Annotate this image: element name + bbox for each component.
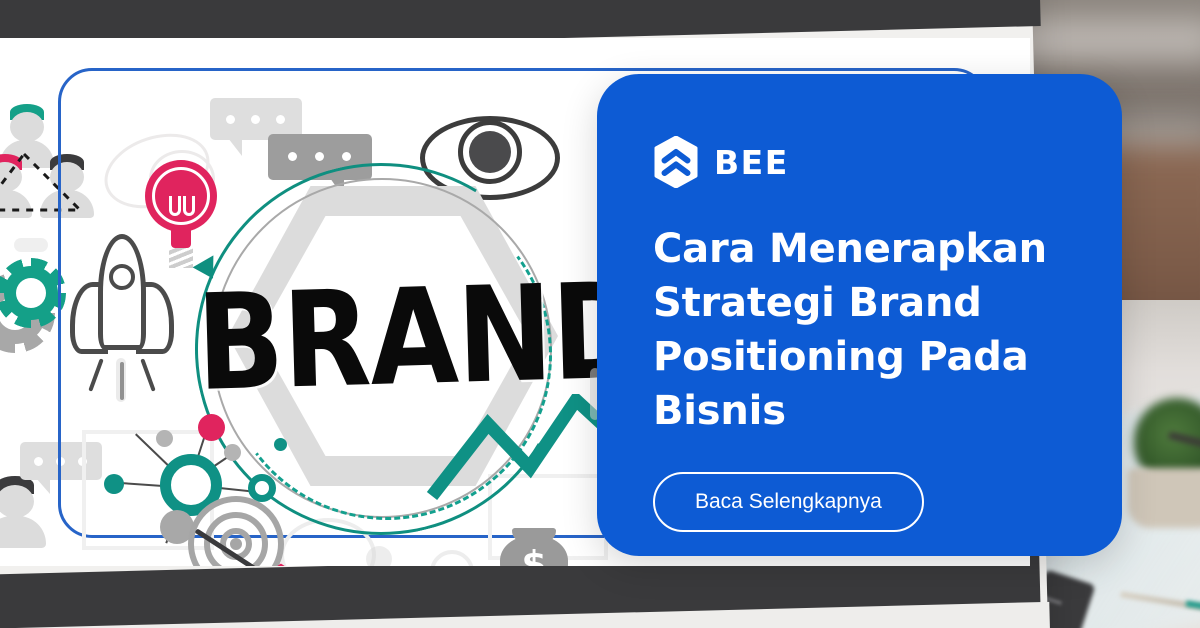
decorative-dot [366, 546, 392, 566]
decorative-bar [14, 238, 48, 252]
screenshot-canvas: BRAND [0, 0, 1200, 628]
brand-wordmark: BRAND [195, 265, 647, 410]
read-more-button[interactable]: Baca Selengkapnya [653, 472, 924, 532]
gear-icon [4, 266, 58, 320]
brand-name: BEE [714, 143, 789, 182]
brand-lockup: BEE [653, 136, 1066, 188]
page-title: Cara Menerapkan Strategi Brand Positioni… [653, 222, 1066, 438]
promo-card: BEE Cara Menerapkan Strategi Brand Posit… [597, 74, 1122, 556]
decorative-circle [430, 550, 474, 566]
decorative-bar [116, 358, 126, 402]
background-plant-pot [1128, 468, 1200, 528]
currency-symbol: $ [496, 544, 572, 566]
bee-hexagon-chevron-logo-icon [653, 136, 699, 188]
lightbulb-icon [145, 160, 221, 270]
target-dartboard-icon [188, 496, 284, 566]
money-bag-icon: $ [496, 522, 572, 566]
